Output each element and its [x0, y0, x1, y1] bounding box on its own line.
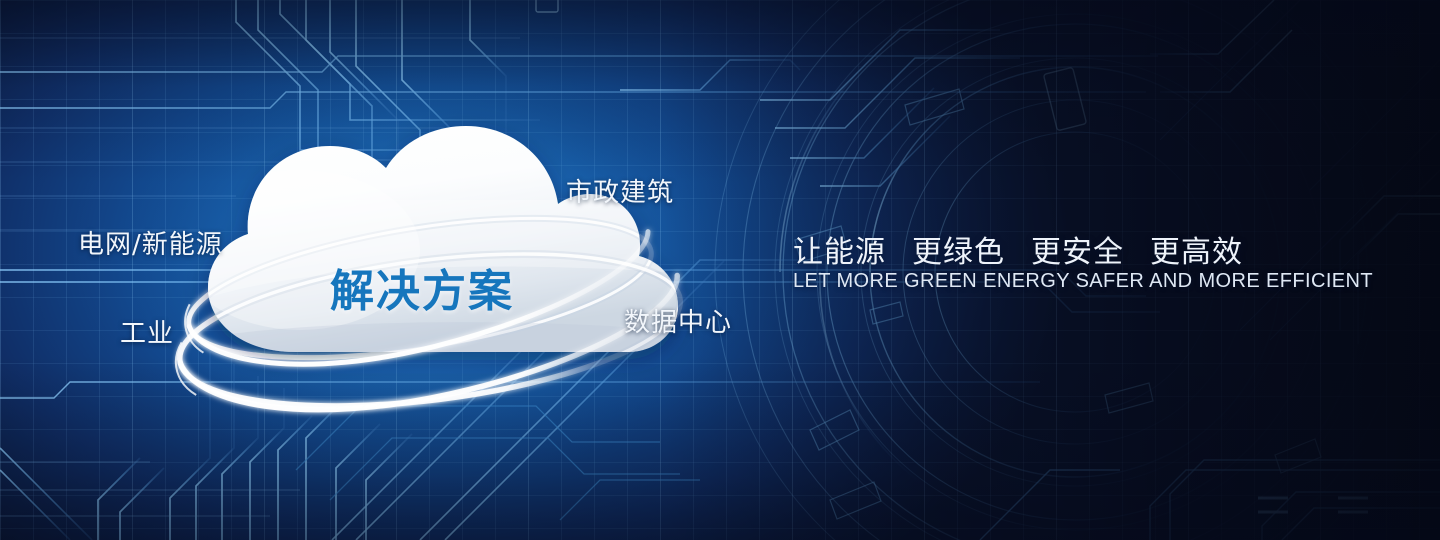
headline: 让能源更绿色更安全更高效 — [793, 227, 1243, 271]
cloud-title: 解决方案 — [330, 255, 514, 319]
headline-segment-2: 更绿色 — [912, 235, 1005, 270]
label-industry: 工业 — [120, 313, 174, 350]
label-data-center: 数据中心 — [624, 302, 732, 339]
label-municipal-building: 市政建筑 — [566, 172, 674, 209]
headline-segment-1: 让能源 — [793, 235, 886, 270]
headline-segment-4: 更高效 — [1150, 235, 1243, 270]
headline-segment-3: 更安全 — [1031, 235, 1124, 270]
label-grid-new-energy: 电网/新能源 — [78, 224, 223, 261]
solution-banner: 解决方案 电网/新能源 工业 市政建筑 数据中心 让能源更绿色更安全更高效 LE… — [0, 0, 1440, 540]
headline-subtitle: LET MORE GREEN ENERGY SAFER AND MORE EFF… — [793, 270, 1373, 293]
